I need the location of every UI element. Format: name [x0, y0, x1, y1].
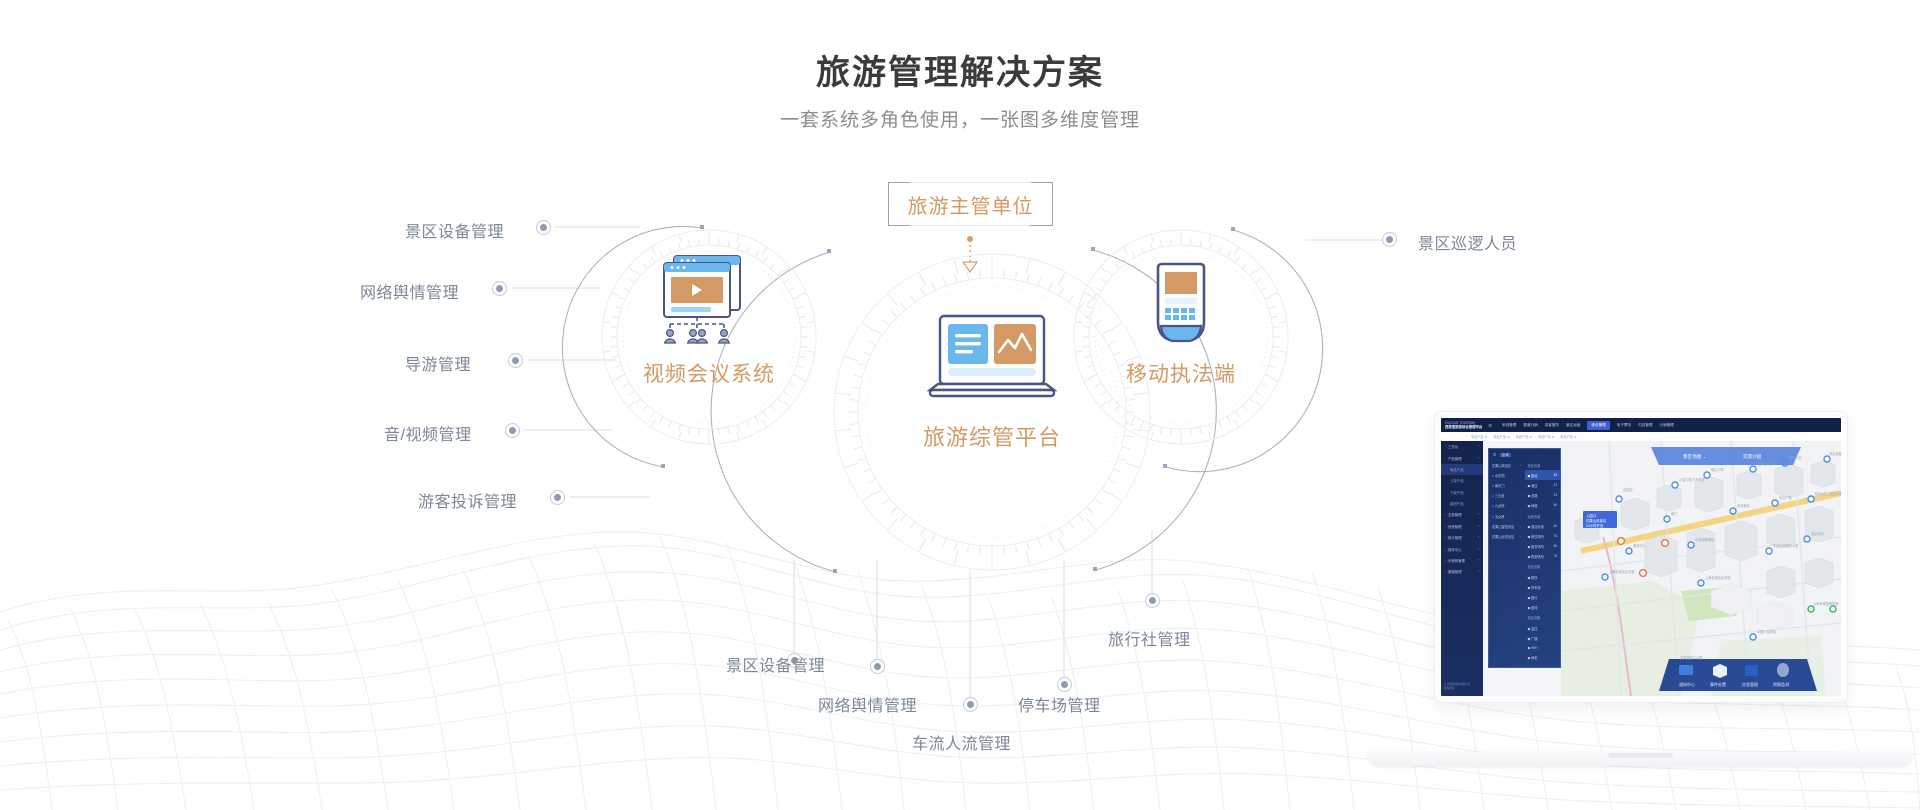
page-subtitle: 一套系统多角色使用，一张图多维度管理: [0, 105, 1920, 132]
left-label-3[interactable]: 音/视频管理: [384, 421, 471, 445]
bottom-dot-1[interactable]: [870, 659, 885, 674]
dashboard-tree-item[interactable]: ● 南天门: [1489, 480, 1525, 490]
dashboard-screenshot: GUOXIN TOURISM 西游宝旅游综合管理平台 ☰ 系统管理渠道分销游客服…: [1441, 418, 1841, 696]
dashboard-resource-item[interactable]: ◼ 监控: [1525, 623, 1561, 633]
dashboard-sidebar-item[interactable]: ◌ 交易管理 ›: [1441, 509, 1483, 520]
dashboard-resource-item[interactable]: ◼ 购物场所76: [1525, 552, 1561, 562]
dashboard-sidebar-item[interactable]: ◌ 产品管理 ›: [1441, 452, 1483, 463]
governing-unit-label: 旅游主管单位: [908, 190, 1034, 219]
dashboard-resource-item[interactable]: ◼ 厕所: [1525, 572, 1561, 582]
dashboard-sidebar-item[interactable]: 下架产品: [1441, 487, 1483, 498]
dashboard-tree-item[interactable]: 花果山智慧景区 ⌄: [1489, 521, 1525, 531]
map-place-label: 中国人保财险: [1757, 629, 1777, 634]
bottom-dot-3[interactable]: [1057, 677, 1072, 692]
footer-line-2: 版权所有: [1444, 687, 1482, 691]
svg-text:舆情监测: 舆情监测: [1773, 681, 1789, 687]
box-edge-bottom: [910, 225, 1031, 226]
dot-inner: [496, 285, 503, 292]
dashboard-sidebar-item[interactable]: ◌ 操作中心 ›: [1441, 543, 1483, 554]
panel-header-label: 区域: [1500, 453, 1511, 457]
governing-unit-box[interactable]: 旅游主管单位: [888, 182, 1053, 226]
dashboard-resource-item[interactable]: ◼ 路灯: [1525, 592, 1561, 602]
close-icon[interactable]: ⊗: [1574, 435, 1577, 439]
dot-inner: [509, 427, 516, 434]
list-icon: ☰: [1493, 453, 1496, 457]
map-place-label: 景区休闲: [1811, 531, 1824, 536]
bottom-label-0[interactable]: 景区设备管理: [726, 652, 825, 676]
dashboard-tab-strip[interactable]: 单品产品 ⊗单品产品 ⊗单品产品 ⊗单品产品 ⊗单品产品 ⊗: [1441, 432, 1841, 441]
node-video-conference[interactable]: 视频会议系统: [600, 228, 818, 446]
box-corner-bottom-left: [888, 204, 910, 226]
dashboard-resource-group: 运营资源: [1525, 511, 1561, 521]
dot-inner: [1061, 681, 1068, 688]
dashboard-resource-item[interactable]: ◼ 餐饮场所78: [1525, 531, 1561, 541]
hamburger-icon[interactable]: ☰: [1488, 423, 1492, 428]
dot-inner: [967, 701, 974, 708]
dashboard-nav-item[interactable]: 分销管理: [1660, 423, 1674, 428]
map-place-label: 上海世博园博物馆: [1813, 601, 1839, 606]
map-place-label: 文博馆路口公园: [1680, 655, 1702, 660]
svg-text:事件处置: 事件处置: [1710, 681, 1726, 687]
dashboard-tree-item[interactable]: ● 三元宫: [1489, 491, 1525, 501]
logo-line-2: 西游宝旅游综合管理平台: [1445, 425, 1482, 429]
left-label-4[interactable]: 游客投诉管理: [418, 488, 517, 512]
svg-text:景区地图 ⌄: 景区地图 ⌄: [1683, 453, 1707, 460]
dashboard-sidebar-item[interactable]: 组团产品: [1441, 498, 1483, 509]
map-place-label: 上海世博会纪念馆: [1705, 575, 1731, 580]
dashboard-resource-item[interactable]: ◼ 酒店23: [1525, 480, 1561, 490]
dashboard-nav-item[interactable]: 景区运营: [1566, 423, 1580, 428]
bottom-label-4[interactable]: 旅行社管理: [1108, 626, 1191, 650]
map-place-label: 中心广场: [1779, 495, 1792, 500]
dashboard-sidebar-item[interactable]: ◌ 统计管理 ›: [1441, 532, 1483, 543]
dashboard-sidebar[interactable]: ◌ 工作台 ›◌ 产品管理 ›单品产品上架产品下架产品组团产品◌ 交易管理 ›◌…: [1441, 441, 1483, 696]
map-place-label: 丰泽行政服务大厦: [1773, 543, 1799, 548]
close-icon[interactable]: ⊗: [1529, 435, 1532, 439]
close-icon[interactable]: ⊗: [1485, 435, 1488, 439]
svg-text:实景沙盘: 实景沙盘: [1743, 453, 1762, 460]
map-place-label: 景区游客服务点: [1829, 451, 1841, 456]
dashboard-logo: GUOXIN TOURISM 西游宝旅游综合管理平台: [1441, 421, 1482, 430]
laptop-dashboard-icon: [922, 310, 1062, 410]
map-place-label: 上海世博会纪念展: [1609, 569, 1635, 574]
panel-resource-list[interactable]: 景区资源◼ 景点23◼ 酒店23◼ 道路23◼ 网格56运营资源◼ 酒店民宿45…: [1525, 460, 1561, 663]
left-dot-3[interactable]: [505, 423, 520, 438]
panel-area-tree[interactable]: 花果山风景区 ⌄● 水帘洞● 南天门● 三元宫● 九龙桥● 玉女峰花果山智慧景区…: [1489, 460, 1525, 663]
dot-inner: [874, 663, 881, 670]
dashboard-tab[interactable]: 单品产品 ⊗: [1538, 434, 1554, 439]
svg-text:入园口: 入园口: [1586, 513, 1596, 518]
left-dot-1[interactable]: [492, 281, 507, 296]
dashboard-nav-item[interactable]: 电子票务: [1617, 423, 1631, 428]
left-label-1[interactable]: 网络舆情管理: [360, 279, 459, 303]
bottom-dot-4[interactable]: [1145, 593, 1160, 608]
map-place-label: 花果山入口: [1757, 461, 1773, 466]
box-corner-top-right: [1031, 182, 1053, 204]
dot-inner: [512, 357, 519, 364]
handheld-device-icon: [1148, 262, 1214, 352]
video-window-icon: [650, 252, 768, 348]
dashboard-resource-item[interactable]: ◼ 景点23: [1525, 470, 1561, 480]
right-label-0[interactable]: 景区巡逻人员: [1418, 230, 1517, 254]
bottom-label-1[interactable]: 网络舆情管理: [818, 692, 917, 716]
dashboard-top-nav: GUOXIN TOURISM 西游宝旅游综合管理平台 ☰ 系统管理渠道分销游客服…: [1441, 418, 1841, 432]
dashboard-resource-item[interactable]: ◼ 停车场: [1525, 582, 1561, 592]
dashboard-resource-panel[interactable]: ☰ 区域 花果山风景区 ⌄● 水帘洞● 南天门● 三元宫● 九龙桥● 玉女峰花果…: [1488, 448, 1561, 668]
dashboard-tree-item[interactable]: ● 玉女峰: [1489, 511, 1525, 521]
dashboard-resource-item[interactable]: ◼ 服务场所55: [1525, 542, 1561, 552]
left-label-0[interactable]: 景区设备管理: [405, 218, 504, 242]
map-place-label: 小康力电力汽车站: [1679, 477, 1705, 482]
node-mobile-enforcement[interactable]: 移动执法端: [1072, 228, 1290, 446]
dot-inner: [1149, 597, 1156, 604]
dashboard-tree-item[interactable]: ● 九龙桥: [1489, 501, 1525, 511]
bottom-label-3[interactable]: 停车场管理: [1018, 692, 1101, 716]
laptop-screen[interactable]: GUOXIN TOURISM 西游宝旅游综合管理平台 ☰ 系统管理渠道分销游客服…: [1435, 412, 1847, 702]
dashboard-tree-item[interactable]: 花果山纪念景区 ⌄: [1489, 531, 1525, 541]
svg-text:通知中心: 通知中心: [1679, 681, 1695, 687]
close-icon[interactable]: ⊗: [1507, 435, 1510, 439]
dashboard-sidebar-item[interactable]: ◌ 工作台 ›: [1441, 441, 1483, 452]
dashboard-resource-item[interactable]: ◼ 闸机: [1525, 653, 1561, 663]
page-title: 旅游管理解决方案: [0, 45, 1920, 94]
laptop-mockup: GUOXIN TOURISM 西游宝旅游综合管理平台 ☰ 系统管理渠道分销游客服…: [1368, 412, 1913, 784]
page-root: 旅游管理解决方案 一套系统多角色使用，一张图多维度管理: [0, 0, 1920, 810]
map-place-label: 南山中学: [1711, 467, 1724, 472]
dot-inner: [540, 224, 547, 231]
dashboard-nav-item[interactable]: 渠道分销: [1523, 423, 1537, 428]
dashboard-nav-item[interactable]: 系统管理: [1502, 423, 1516, 428]
left-dot-4[interactable]: [550, 490, 565, 505]
map-place-label: 东鸣湖管理馆: [1695, 537, 1714, 542]
box-edge-top: [910, 182, 1031, 183]
dashboard-tab[interactable]: 单品产品 ⊗: [1493, 434, 1509, 439]
dot-inner: [554, 494, 561, 501]
dashboard-resource-item[interactable]: ◼ 酒店民宿45: [1525, 521, 1561, 531]
map-place-label: 清凉禅寺: [1737, 503, 1751, 508]
dashboard-resource-group: 景区资源: [1525, 460, 1561, 470]
map-place-label: 城市小区: [1789, 455, 1803, 460]
dashboard-tree-item[interactable]: 花果山风景区 ⌄: [1489, 460, 1525, 470]
dashboard-resource-item[interactable]: ◼ 广播: [1525, 633, 1561, 643]
left-label-2[interactable]: 导游管理: [405, 351, 471, 375]
right-dot-0[interactable]: [1382, 232, 1397, 247]
node-label-mobile: 移动执法端: [1072, 358, 1290, 388]
dashboard-tree-item[interactable]: ● 水帘洞: [1489, 470, 1525, 480]
dot-inner: [1386, 236, 1393, 243]
dashboard-resource-group: 景区设施: [1525, 562, 1561, 572]
bottom-dot-2[interactable]: [963, 697, 978, 712]
dashboard-map[interactable]: 入园口 花果山风景区 24小时开放 景区地图 ⌄ 实景沙盘: [1561, 441, 1841, 696]
map-place-label: 杭州K区二层立体车库: [1815, 491, 1841, 496]
svg-text:24小时开放: 24小时开放: [1586, 523, 1604, 528]
dashboard-tab[interactable]: 单品产品 ⊗: [1471, 434, 1487, 439]
dashboard-nav-item[interactable]: 综合管理: [1587, 421, 1609, 430]
dashboard-resource-item[interactable]: ◼ 网格56: [1525, 501, 1561, 511]
bottom-label-2[interactable]: 车流人流管理: [912, 730, 1011, 754]
dashboard-footer: 江苏国信旅游有限公司 版权所有: [1444, 683, 1482, 691]
dashboard-sidebar-item[interactable]: ◌ 系统管理 ›: [1441, 521, 1483, 532]
map-canvas: 入园口 花果山风景区 24小时开放 景区地图 ⌄ 实景沙盘: [1561, 441, 1841, 696]
dashboard-sidebar-item[interactable]: ◌ 渠道管理 ›: [1441, 566, 1483, 577]
svg-text:花果山风景区: 花果山风景区: [1586, 518, 1607, 523]
node-label-video: 视频会议系统: [600, 358, 818, 388]
map-place-label: 高铁站: [1623, 487, 1633, 492]
dashboard-tab[interactable]: 单品产品 ⊗: [1560, 434, 1576, 439]
dashboard-resource-group: 景区设备: [1525, 613, 1561, 623]
dashboard-sidebar-item[interactable]: 单品产品: [1441, 464, 1483, 475]
dashboard-sidebar-item[interactable]: 上架产品: [1441, 475, 1483, 486]
panel-header: ☰ 区域: [1489, 449, 1560, 460]
dashboard-nav-item[interactable]: 游客服务: [1545, 423, 1559, 428]
svg-text:应急管理: 应急管理: [1742, 681, 1758, 687]
dashboard-resource-item[interactable]: ◼ WIFI: [1525, 643, 1561, 652]
left-dot-0[interactable]: [536, 220, 551, 235]
dashboard-resource-item[interactable]: ◼ 道路23: [1525, 491, 1561, 501]
dashboard-nav-items[interactable]: 系统管理渠道分销游客服务景区运营综合管理电子票务内容管理分销管理: [1502, 421, 1674, 430]
map-place-label: 服务中心: [1633, 543, 1647, 548]
dashboard-sidebar-item[interactable]: ◌ 分销商管理 ›: [1441, 555, 1483, 566]
close-icon[interactable]: ⊗: [1552, 435, 1555, 439]
map-place-label: 南门: [1671, 511, 1677, 516]
dashboard-resource-item[interactable]: ◼ 座椅: [1525, 603, 1561, 613]
laptop-notch: [1608, 753, 1673, 758]
left-dot-2[interactable]: [508, 353, 523, 368]
dashboard-nav-item[interactable]: 内容管理: [1638, 423, 1652, 428]
dashboard-tab[interactable]: 单品产品 ⊗: [1516, 434, 1532, 439]
